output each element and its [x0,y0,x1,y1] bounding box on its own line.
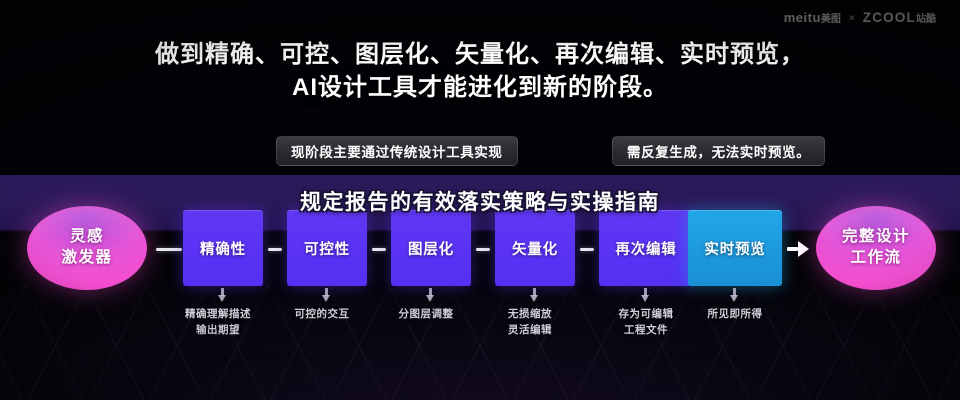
connector-dash-1 [268,248,282,251]
flow-node-caption-1-line-1: 可控的交互 [272,307,372,323]
brand-separator-icon: × [849,13,855,24]
flow-node-0: 精确性 [183,210,263,286]
flow-node-caption-4-line-2: 工程文件 [591,323,701,339]
connector-dash-2 [372,248,386,251]
meitu-latin-text: meitu [784,10,821,25]
flow-node-0-label: 精确性 [200,238,246,259]
flow-end-line-2: 工作流 [850,249,901,268]
zcool-logo: ZCOOL站酷 [863,11,936,25]
flow-node-5: 实时预览 [688,210,782,286]
arrow-head [798,241,809,257]
flow-start-line-1: 灵感 [70,228,104,247]
poster-stage: meitu美图 × ZCOOL站酷 做到精确、可控、图层化、矢量化、再次编辑、实… [0,0,960,400]
flow-arrow-icon [787,240,809,258]
flow-diagram: 灵感 激发器 精确性 可控性 图层化 矢量化 再次编辑 实时预览 完整设计 工作… [0,206,960,296]
connector-dash-4 [580,248,594,251]
flow-node-2: 图层化 [391,210,471,286]
meitu-cn-text: 美图 [821,14,841,25]
flow-node-caption-5-line-1: 所见即所得 [685,307,785,323]
flow-node-caption-3-line-1: 无损缩放 [480,307,580,323]
brand-logo-group: meitu美图 × ZCOOL站酷 [784,11,936,25]
connector-dash-3 [476,248,490,251]
arrow-bar [787,247,798,251]
flow-node-caption-3-line-2: 灵活编辑 [480,323,580,339]
flow-node-3-label: 矢量化 [512,238,558,259]
headline-line-1: 做到精确、可控、图层化、矢量化、再次编辑、实时预览， [155,41,805,68]
flow-node-caption-3: 无损缩放 灵活编辑 [480,307,580,339]
flow-start-line-2: 激发器 [61,249,112,268]
down-arrow-icon-5 [730,288,739,302]
zcool-latin-text: ZCOOL [863,10,916,25]
flow-node-caption-0-line-2: 输出期望 [163,323,273,339]
down-arrow-icon-3 [530,288,539,302]
flow-node-3: 矢量化 [495,210,575,286]
flow-node-1: 可控性 [287,210,367,286]
down-arrow-icon-4 [641,288,650,302]
overlay-caption: 规定报告的有效落实策略与实操指南 [0,186,960,216]
flow-start-node: 灵感 激发器 [27,206,147,290]
flow-node-caption-2: 分图层调整 [376,307,476,323]
flow-node-caption-2-line-1: 分图层调整 [376,307,476,323]
down-arrow-icon-1 [322,288,331,302]
connector-dash-0 [156,248,182,251]
flow-node-caption-1: 可控的交互 [272,307,372,323]
headline-line-2: AI设计工具才能进化到新的阶段。 [0,71,960,104]
flow-node-5-label: 实时预览 [704,238,765,259]
flow-node-caption-0: 精确理解描述 输出期望 [163,307,273,339]
info-chip-left: 现阶段主要通过传统设计工具实现 [276,136,518,166]
meitu-logo: meitu美图 [784,11,841,25]
flow-node-caption-5: 所见即所得 [685,307,785,323]
down-arrow-icon-2 [426,288,435,302]
flow-node-4: 再次编辑 [599,210,693,286]
flow-node-2-label: 图层化 [408,238,454,259]
flow-node-1-label: 可控性 [304,238,350,259]
flow-node-caption-0-line-1: 精确理解描述 [163,307,273,323]
down-arrow-icon-0 [218,288,227,302]
flow-node-4-label: 再次编辑 [615,238,676,259]
flow-end-node: 完整设计 工作流 [816,206,936,290]
info-chip-right: 需反复生成，无法实时预览。 [612,136,825,166]
headline: 做到精确、可控、图层化、矢量化、再次编辑、实时预览， AI设计工具才能进化到新的… [0,38,960,104]
zcool-cn-text: 站酷 [916,14,936,25]
flow-end-line-1: 完整设计 [842,228,910,247]
